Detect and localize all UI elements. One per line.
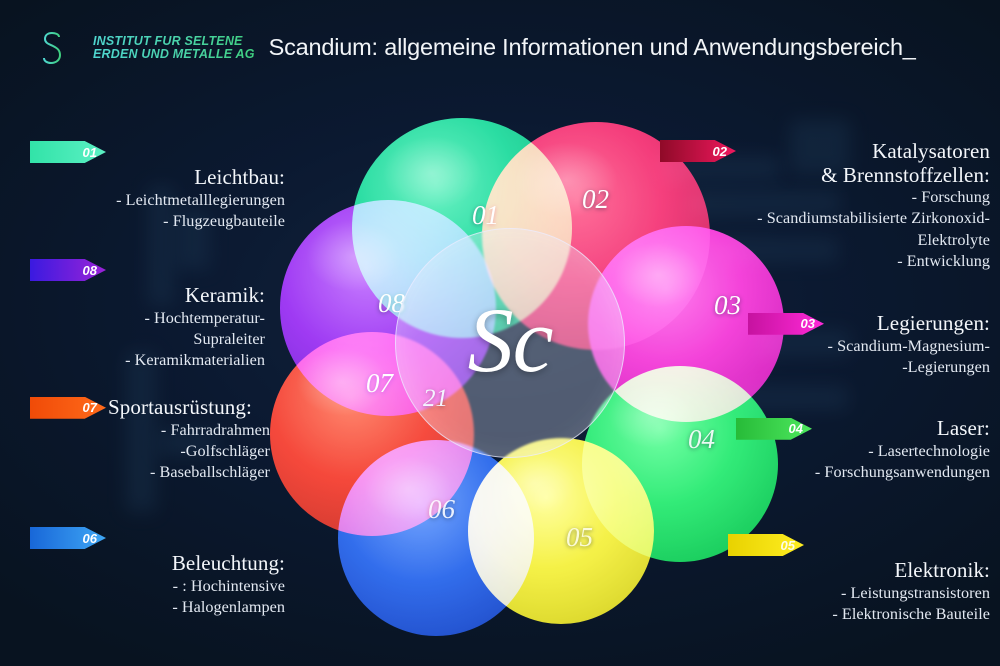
item-title: Legierungen: [824,312,990,336]
element-core[interactable]: Sc 21 [395,228,625,458]
item-line: - Hochtemperatur- [30,308,265,329]
item-title: Elektronik: [728,559,990,583]
label-item-08: 08 Keramik: - Hochtemperatur- Supraleite… [30,259,265,372]
sphere-number: 02 [582,184,609,215]
badge-number: 02 [713,144,730,159]
badge-number: 01 [83,145,100,160]
item-line: - Flugzeugbauteile [30,211,285,232]
badge-title-row: 07 Sportausrüstung: [30,396,270,420]
item-line: -Legierungen [748,357,990,378]
element-atomic-number: 21 [423,385,448,413]
sphere-gloss [382,136,482,210]
badge-title-row: 04 Laser: [736,417,990,441]
item-line: - : Hochintensive [30,576,285,597]
ise-monogram-icon [30,31,84,65]
item-line: -Golfschläger [30,441,270,462]
item-line: - Forschungsanwendungen [736,462,990,483]
logo-line-2: ERDEN UND METALLE AG [93,48,255,61]
badge-02[interactable]: 02 [660,140,736,162]
item-line: - Scandium-Magnesium- [748,336,990,357]
badge-number: 03 [801,316,818,331]
badge-03[interactable]: 03 [748,313,824,335]
badge-number: 07 [83,400,100,415]
label-item-06: 06 Beleuchtung: - : Hochintensive - Halo… [30,527,285,618]
badge-row: 08 [30,259,265,281]
item-line: - Keramikmaterialien [30,350,265,371]
item-line: - Lasertechnologie [736,441,990,462]
scandium-sphere-cluster: 08 01 02 03 04 05 06 07 Sc 21 [270,118,700,548]
badge-07[interactable]: 07 [30,397,106,419]
header: INSTITUT FÜR SELTENE ERDEN UND METALLE A… [0,0,1000,95]
item-title: Laser: [812,417,990,441]
item-line: - Fahrradrahmen [30,420,270,441]
sphere-number: 07 [366,368,393,399]
badge-row: 06 [30,527,285,549]
logo-line-1: INSTITUT FÜR SELTENE [93,35,255,48]
badge-title-row: 03 Legierungen: [748,312,990,336]
badge-number: 04 [789,421,806,436]
badge-08[interactable]: 08 [30,259,106,281]
item-line: - Leistungstransistoren [728,583,990,604]
badge-05[interactable]: 05 [728,534,804,556]
logo-wordmark: INSTITUT FÜR SELTENE ERDEN UND METALLE A… [93,35,255,61]
item-line: - Entwicklung [660,251,990,272]
item-line: - Baseballschläger [30,462,270,483]
badge-number: 05 [781,538,798,553]
item-title: Sportausrüstung: [108,396,252,420]
badge-04[interactable]: 04 [736,418,812,440]
badge-06[interactable]: 06 [30,527,106,549]
item-title: Katalysatoren [736,140,990,164]
element-symbol: Sc [468,294,553,386]
label-item-03: 03 Legierungen: - Scandium-Magnesium- -L… [748,312,990,378]
item-title: Leichtbau: [30,166,285,190]
company-logo: INSTITUT FÜR SELTENE ERDEN UND METALLE A… [30,31,255,65]
badge-number: 08 [83,263,100,278]
badge-row: 01 [30,141,285,163]
label-item-01: 01 Leichtbau: - Leichtmetalllegierungen … [30,141,285,232]
sphere-number: 03 [714,290,741,321]
sphere-number: 05 [566,522,593,553]
badge-01[interactable]: 01 [30,141,106,163]
item-line: - Leichtmetalllegierungen [30,190,285,211]
badge-row: 05 [728,534,990,556]
badge-title-row: 02 Katalysatoren [660,140,990,164]
label-item-07: 07 Sportausrüstung: - Fahrradrahmen -Gol… [30,396,270,484]
label-item-05: 05 Elektronik: - Leistungstransistoren -… [728,534,990,625]
item-title: Beleuchtung: [30,552,285,576]
badge-number: 06 [83,531,100,546]
item-line: - Elektronische Bauteile [728,604,990,625]
sphere-number: 04 [688,424,715,455]
item-line: Supraleiter [30,329,265,350]
item-line: - Halogenlampen [30,597,285,618]
label-item-04: 04 Laser: - Lasertechnologie - Forschung… [736,417,990,483]
page-title: Scandium: allgemeine Informationen und A… [269,34,916,61]
sphere-gloss [608,382,696,448]
item-title-2: & Brennstoffzellen: [660,164,990,188]
item-title: Keramik: [30,284,265,308]
label-item-02: 02 Katalysatoren & Brennstoffzellen: - F… [660,140,990,273]
item-line: - Forschung [660,187,990,208]
item-line: - Scandiumstabilisierte Zirkonoxid- [660,208,990,229]
item-line: Elektrolyte [660,230,990,251]
